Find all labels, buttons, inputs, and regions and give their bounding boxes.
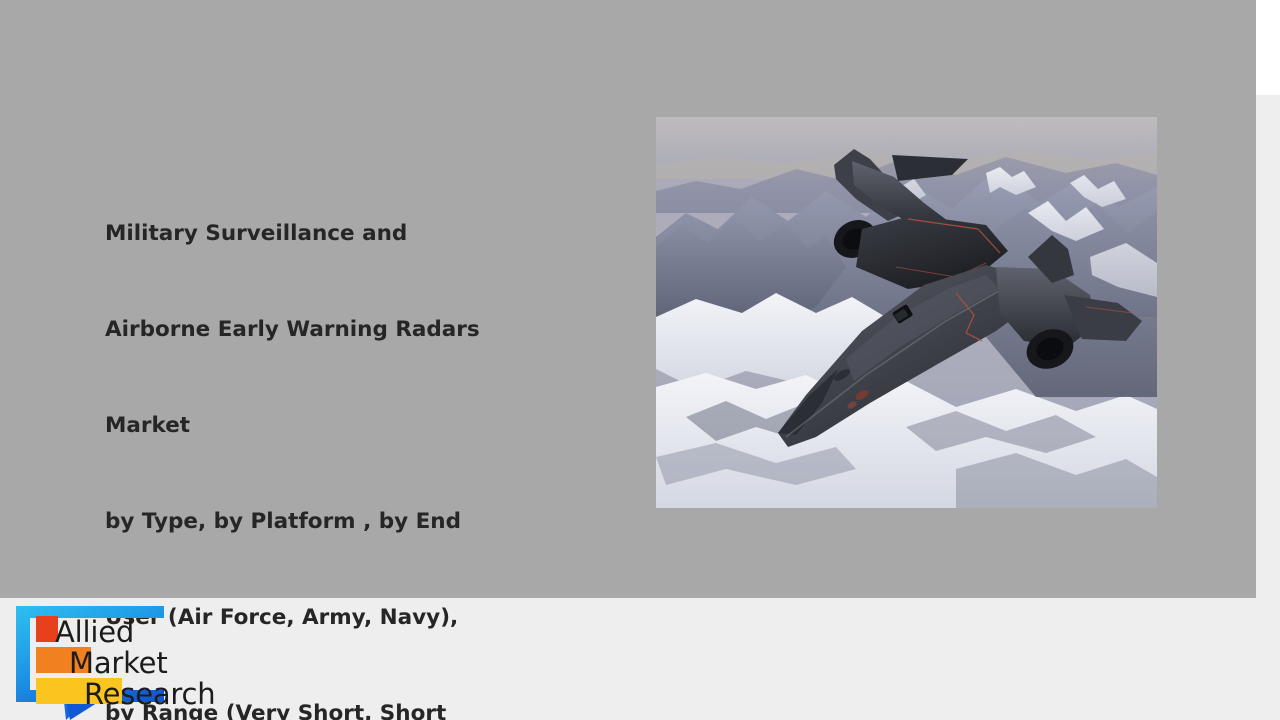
logo-mark-icon bbox=[14, 602, 274, 720]
aircraft-photo bbox=[656, 117, 1157, 508]
logo-bar-red bbox=[36, 616, 58, 642]
title-line: Military Surveillance and bbox=[105, 218, 595, 250]
title-line: Airborne Early Warning Radars bbox=[105, 314, 595, 346]
allied-market-research-logo: Allied Market Research bbox=[14, 602, 274, 720]
title-line: by Type, by Platform , by End bbox=[105, 506, 595, 538]
logo-bar-yellow bbox=[36, 678, 122, 704]
aircraft-photo-illustration bbox=[656, 117, 1157, 508]
title-line: Market bbox=[105, 410, 595, 442]
logo-bar-orange bbox=[36, 647, 91, 673]
